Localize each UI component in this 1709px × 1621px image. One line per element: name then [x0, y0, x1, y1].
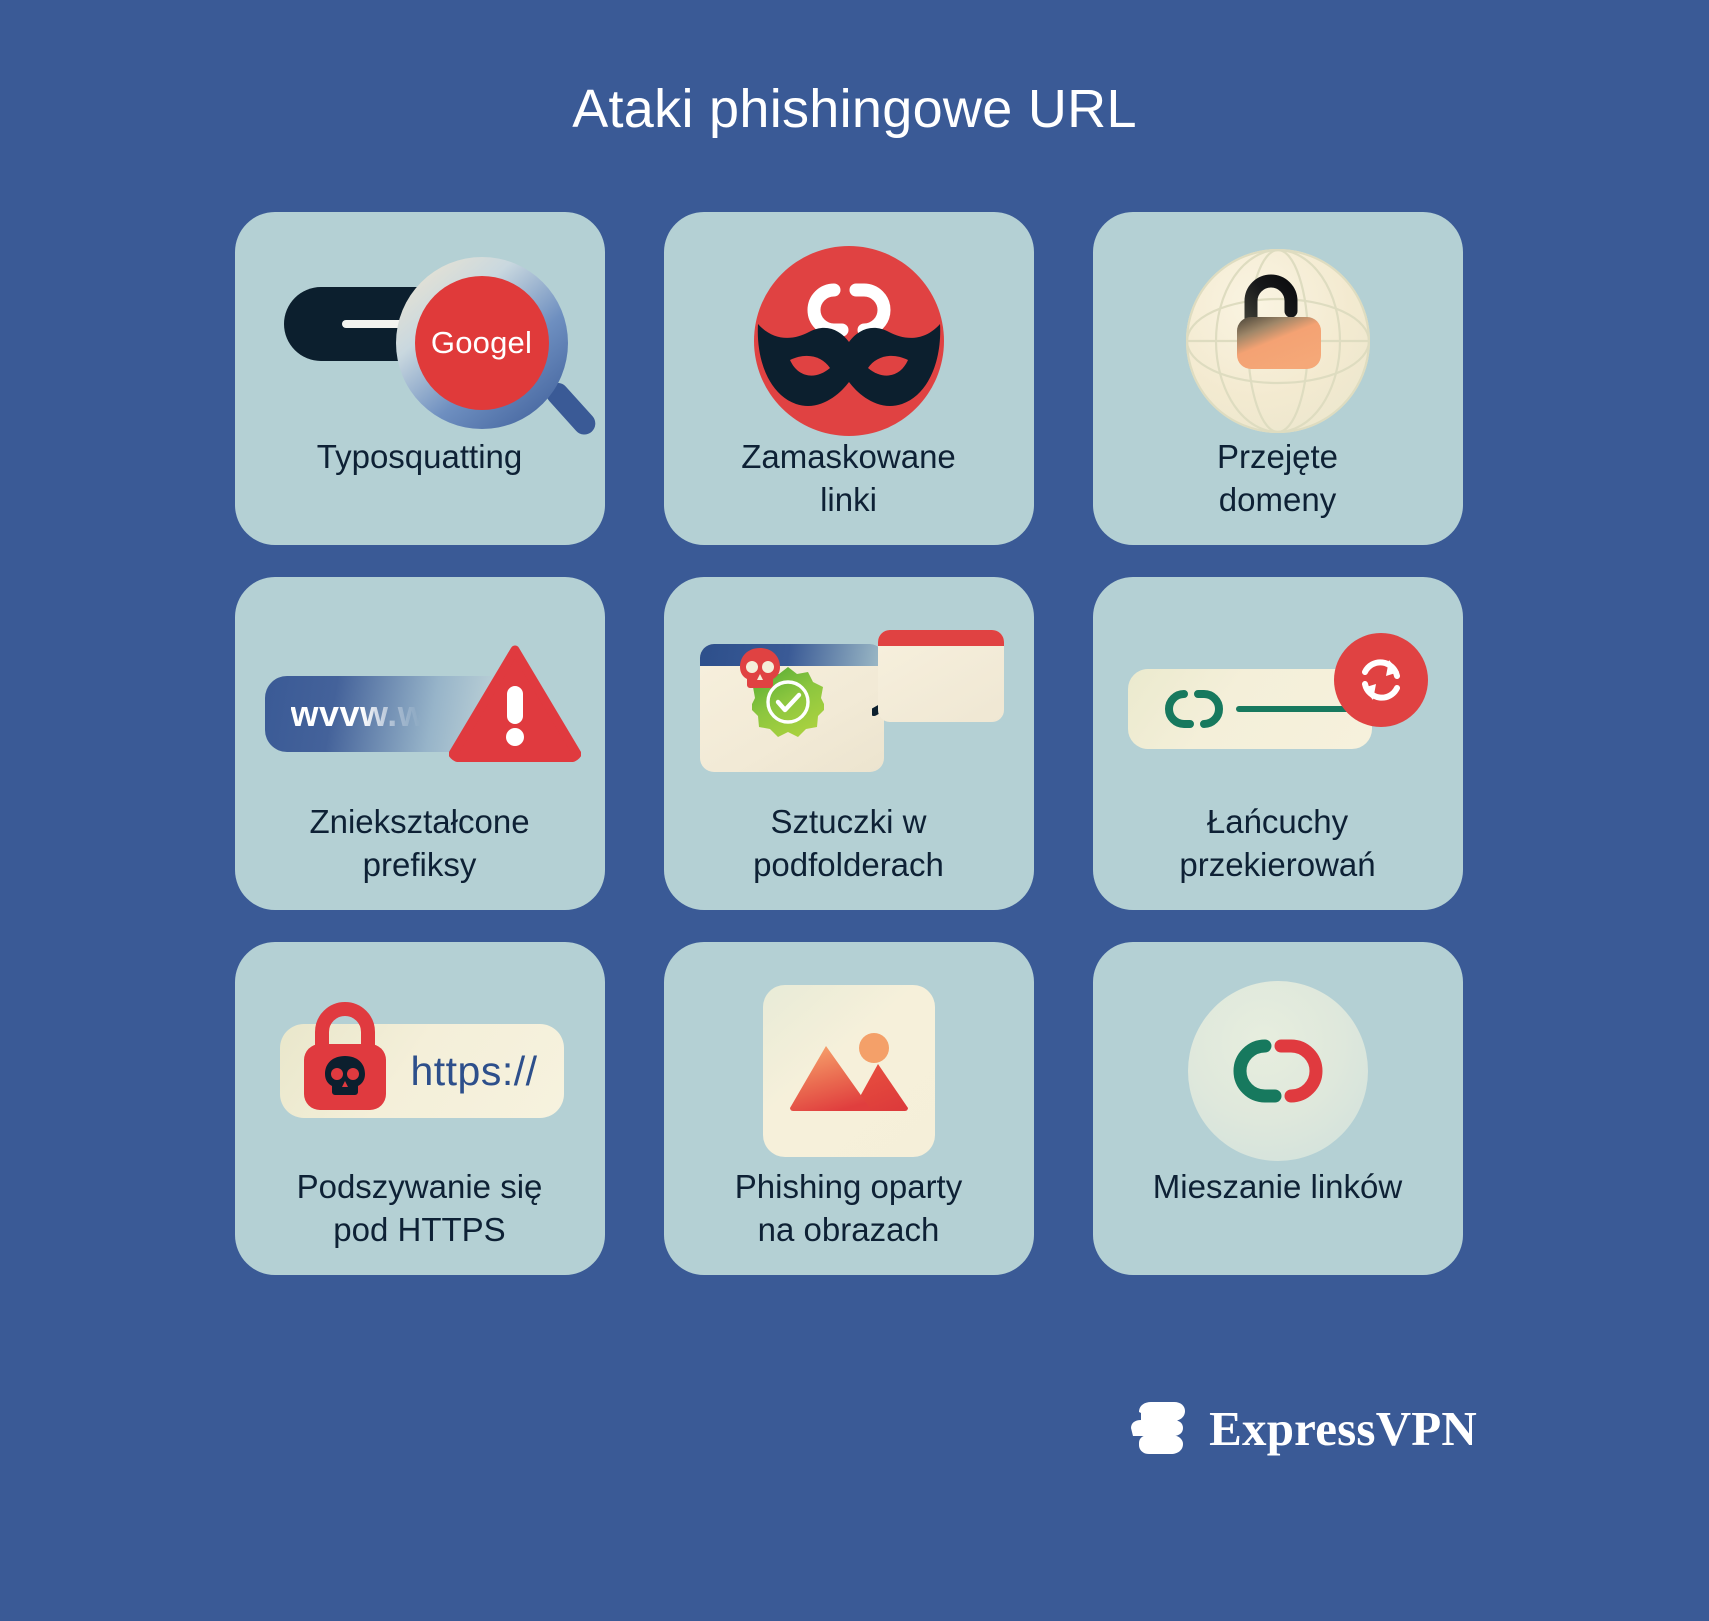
card-hijacked-domains[interactable]: Przejęte domeny — [1093, 212, 1463, 545]
link-mixing-circle-background — [1188, 981, 1368, 1161]
subfolder-tricks-icon-area — [664, 611, 1034, 801]
image-phishing-icon-area — [664, 976, 1034, 1166]
padlock-skull-icon: https:// — [270, 996, 570, 1146]
redirect-loop-badge — [1334, 633, 1428, 727]
card-subfolder-tricks[interactable]: Sztuczki w podfolderach — [664, 577, 1034, 910]
typosquatting-misspelled-text: Googel — [431, 325, 532, 361]
magnifier-glass-icon: Googel — [396, 257, 568, 429]
mountain-sun-icon — [790, 1030, 908, 1112]
brand-footer: ExpressVPN — [1125, 1395, 1477, 1461]
https-scheme-text: https:// — [410, 1048, 537, 1095]
card-link-mixing[interactable]: Mieszanie linków — [1093, 942, 1463, 1275]
hijacked-domains-icon-area — [1093, 246, 1463, 436]
link-mixing-icon-area — [1093, 976, 1463, 1166]
refresh-arrows-icon — [1353, 652, 1409, 708]
card-label-typosquatting: Typosquatting — [303, 436, 536, 479]
browser-title-bar — [700, 644, 884, 666]
https-spoofing-icon-area: https:// — [235, 976, 605, 1166]
eye-mask-icon — [754, 318, 944, 414]
masquerade-mask-icon — [754, 246, 944, 436]
card-label-subfolder-tricks: Sztuczki w podfolderach — [739, 801, 958, 887]
image-placeholder-icon — [763, 985, 935, 1157]
brand-name: ExpressVPN — [1209, 1404, 1477, 1453]
malicious-title-bar — [878, 630, 1004, 646]
browser-windows-skull-icon — [694, 616, 1004, 796]
redirect-chains-icon-area — [1093, 611, 1463, 801]
two-tone-chain-link-icon — [1215, 1032, 1341, 1110]
card-label-hijacked-domains: Przejęte domeny — [1203, 436, 1352, 522]
typosquatting-icon-area: Googel — [235, 246, 605, 436]
red-padlock-skull-icon — [292, 998, 398, 1126]
card-label-masked-links: Zamaskowane linki — [727, 436, 970, 522]
warning-triangle-icon — [449, 644, 581, 762]
card-label-link-mixing: Mieszanie linków — [1139, 1166, 1416, 1209]
card-redirect-chains[interactable]: Łańcuchy przekierowań — [1093, 577, 1463, 910]
card-masked-links[interactable]: Zamaskowane linki — [664, 212, 1034, 545]
page-title: Ataki phishingowe URL — [572, 82, 1137, 136]
card-label-https-spoofing: Podszywanie się pod HTTPS — [283, 1166, 557, 1252]
masked-links-icon-area — [664, 246, 1034, 436]
card-https-spoofing[interactable]: https:// Podszywanie się pod HTTPS — [235, 942, 605, 1275]
malicious-browser-window — [878, 630, 1004, 722]
card-image-phishing[interactable]: Phishing oparty na obrazach — [664, 942, 1034, 1275]
malformed-url-text: wvvw.w — [291, 693, 427, 735]
skull-icon — [738, 646, 782, 690]
card-label-redirect-chains: Łańcuchy przekierowań — [1165, 801, 1389, 887]
url-bar-warning-icon: wvvw.w — [265, 616, 575, 796]
link-redirect-loop-icon — [1128, 621, 1428, 791]
magnifier-search-bar-icon: Googel — [270, 251, 570, 431]
expressvpn-e-logo-icon — [1125, 1395, 1191, 1461]
chain-link-green-icon — [1154, 684, 1232, 734]
card-malformed-prefixes[interactable]: wvvw.w Zniekształcone prefiksy — [235, 577, 605, 910]
open-padlock-icon — [1231, 273, 1327, 381]
infographic-root: Ataki phishingowe URL Googel Typosquatti… — [0, 0, 1709, 1621]
malformed-prefixes-icon-area: wvvw.w — [235, 611, 605, 801]
card-typosquatting[interactable]: Googel Typosquatting — [235, 212, 605, 545]
magnifier-lens: Googel — [415, 276, 549, 410]
attack-card-grid: Googel Typosquatting — [235, 212, 1475, 1275]
card-label-image-phishing: Phishing oparty na obrazach — [721, 1166, 976, 1252]
globe-open-padlock-icon — [1186, 249, 1370, 433]
card-label-malformed-prefixes: Zniekształcone prefiksy — [295, 801, 543, 887]
